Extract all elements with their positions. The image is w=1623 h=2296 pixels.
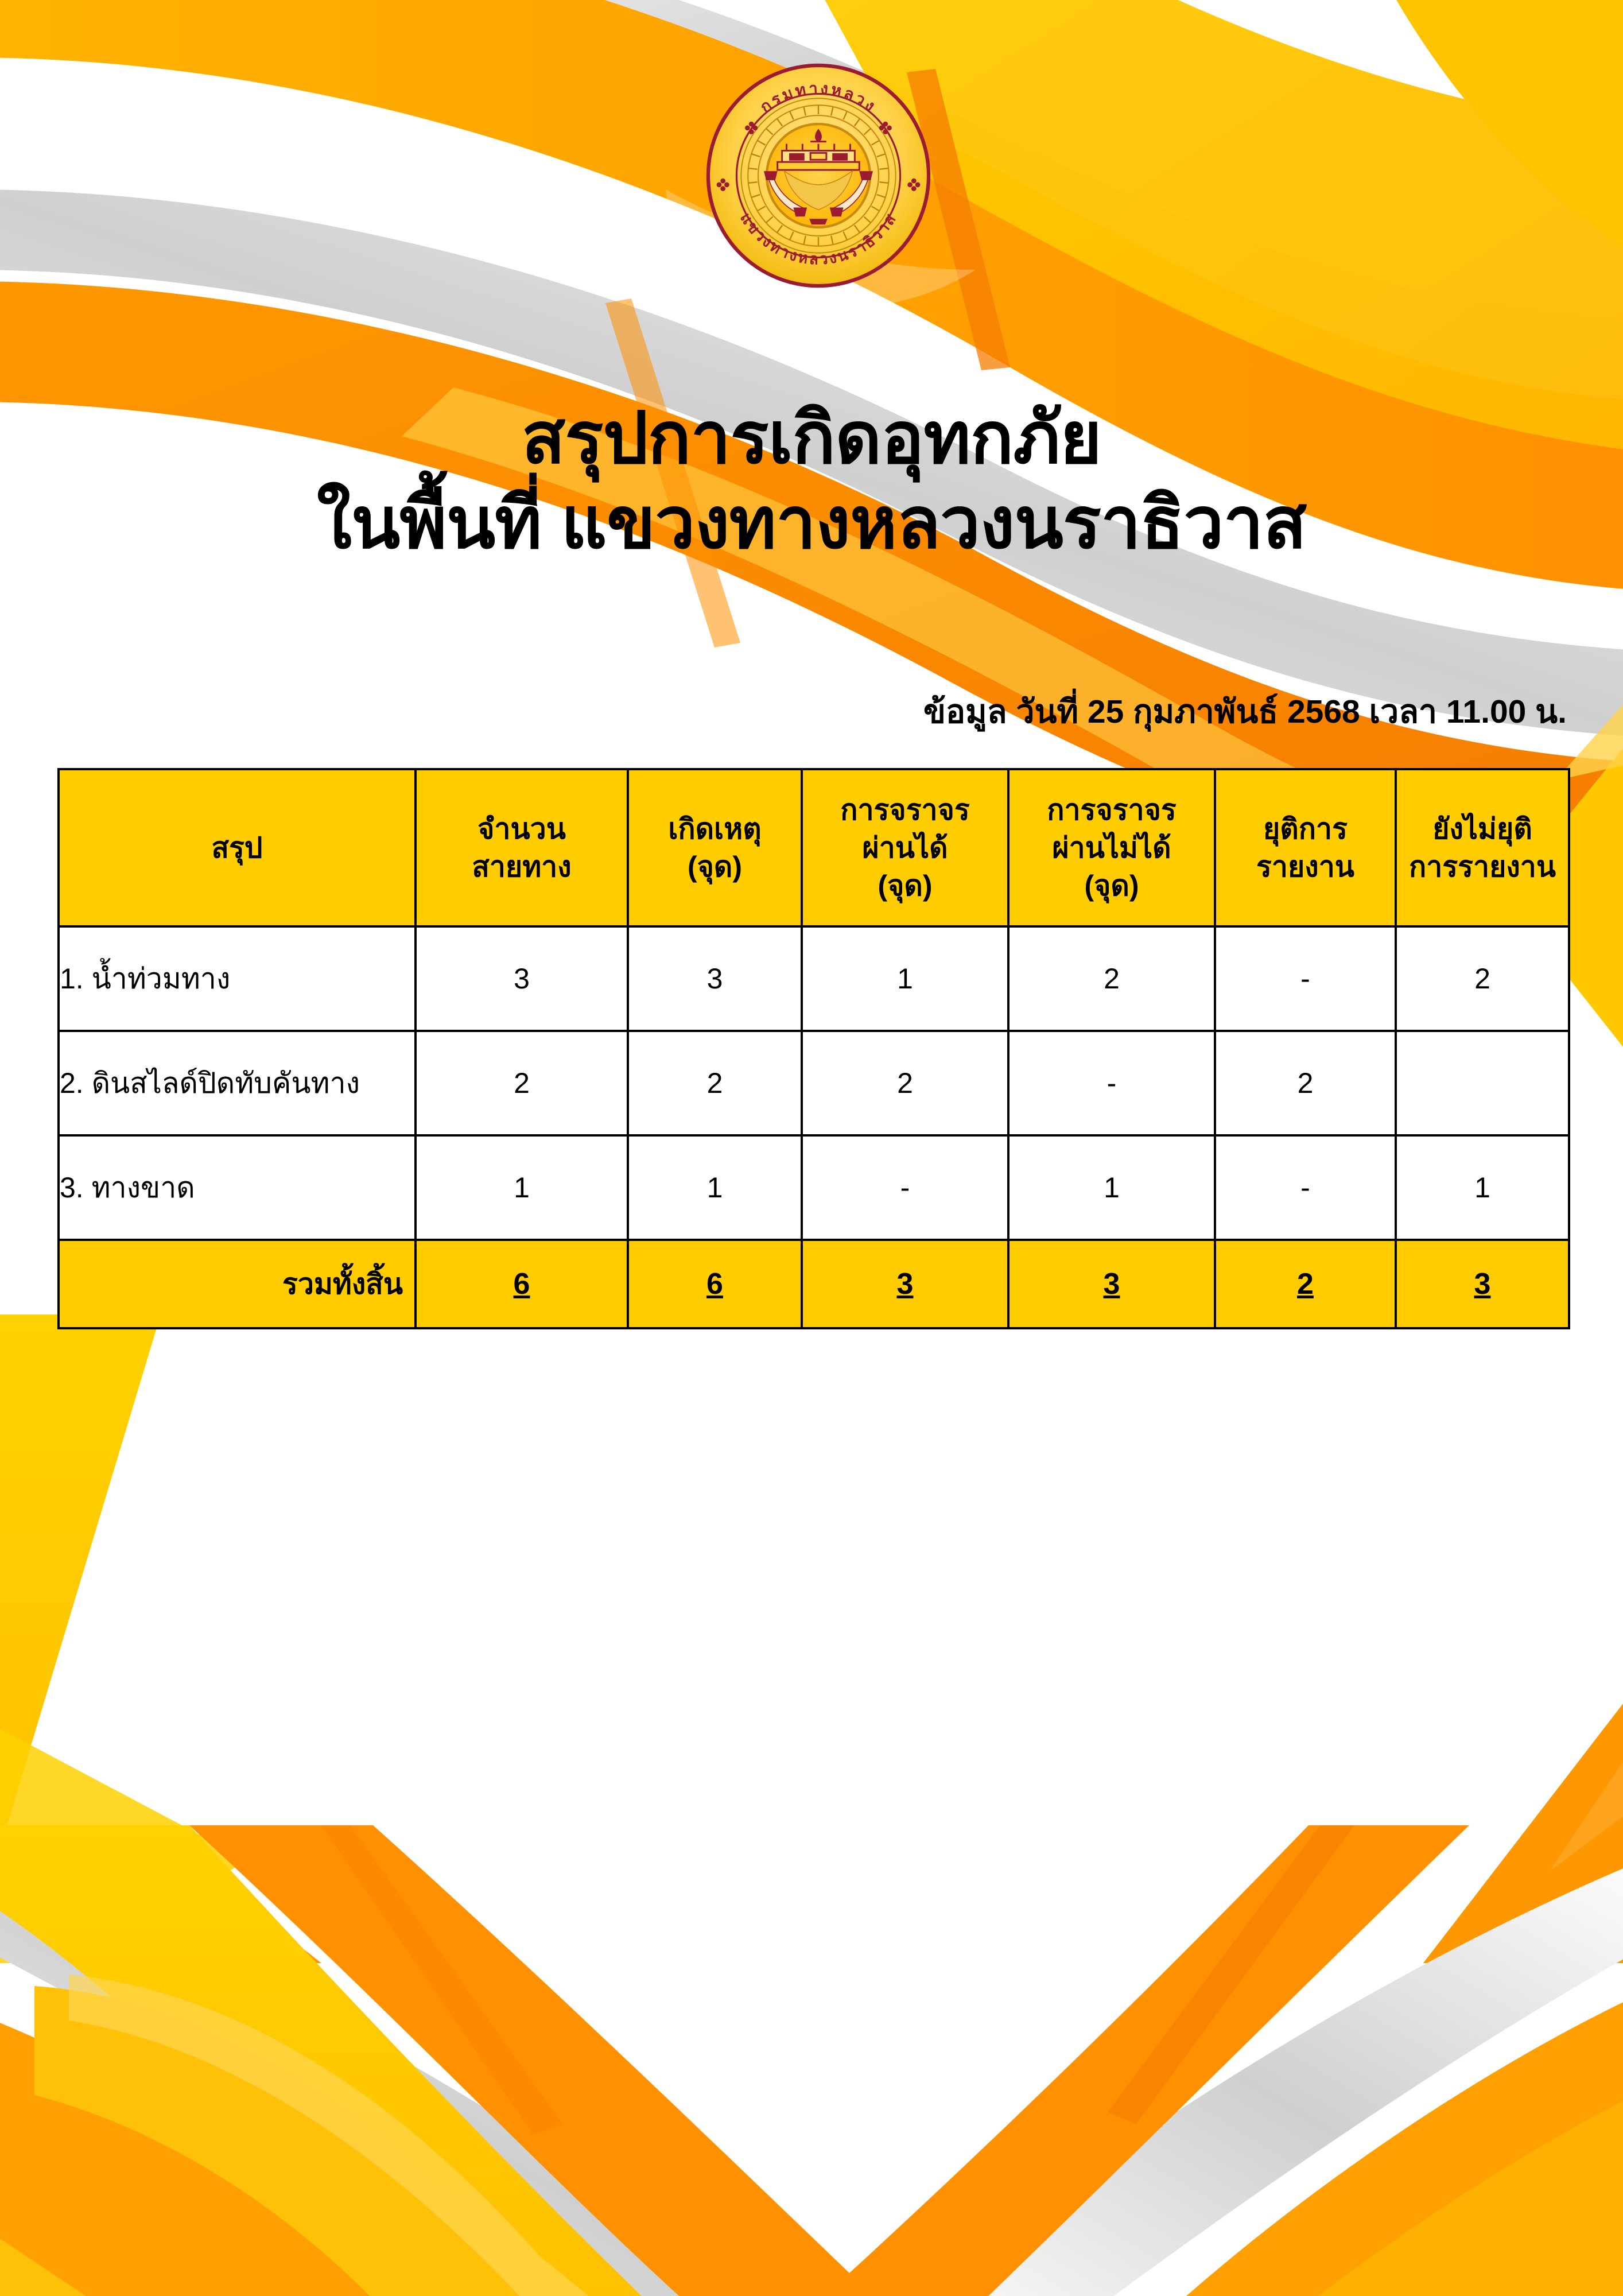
column-header-impassable: การจราจร ผ่านไม่ได้ (จุด) xyxy=(1008,769,1215,926)
total-passable: 3 xyxy=(802,1240,1008,1328)
column-header-report-closed: ยุติการ รายงาน xyxy=(1215,769,1396,926)
row-category: 1. น้ำท่วมทาง xyxy=(59,926,416,1031)
cell-incident-points: 2 xyxy=(628,1031,802,1135)
table-row: 2. ดินสไลด์ปิดทับคันทาง 2 2 2 - 2 xyxy=(59,1031,1569,1135)
cell-passable: 2 xyxy=(802,1031,1008,1135)
cell-report-closed: 2 xyxy=(1215,1031,1396,1135)
header-text: เกิดเหตุ xyxy=(629,810,801,848)
organization-seal: กรมทางหลวง แขวงทางหลวงนราธิวาส xyxy=(705,62,932,289)
header-text: ยังไม่ยุติ xyxy=(1397,810,1568,848)
total-incident-points: 6 xyxy=(628,1240,802,1328)
header-text: รายงาน xyxy=(1216,848,1395,886)
header-text: สายทาง xyxy=(417,848,627,886)
header-text: ยุติการ xyxy=(1216,810,1395,848)
title-line-2: ในพื้นที่ แขวงทางหลวงนราธิวาส xyxy=(0,481,1623,566)
cell-impassable: 1 xyxy=(1008,1135,1215,1240)
total-report-open: 3 xyxy=(1396,1240,1569,1328)
total-label: รวมทั้งสิ้น xyxy=(59,1240,416,1328)
page-title: สรุปการเกิดอุทกภัย ในพื้นที่ แขวงทางหลวง… xyxy=(0,396,1623,565)
department-of-highways-seal-icon: กรมทางหลวง แขวงทางหลวงนราธิวาส xyxy=(705,62,932,289)
column-header-incident-points: เกิดเหตุ (จุด) xyxy=(628,769,802,926)
column-header-summary: สรุป xyxy=(59,769,416,926)
cell-route-count: 1 xyxy=(416,1135,628,1240)
table-row: 3. ทางขาด 1 1 - 1 - 1 xyxy=(59,1135,1569,1240)
total-route-count: 6 xyxy=(416,1240,628,1328)
flood-summary-table: สรุป จำนวน สายทาง เกิดเหตุ (จุด) การจราจ… xyxy=(57,768,1570,1329)
header-text: (จุด) xyxy=(1009,867,1214,905)
cell-impassable: - xyxy=(1008,1031,1215,1135)
header-text: จำนวน xyxy=(417,810,627,848)
left-middle-accent xyxy=(0,1314,321,1963)
cell-route-count: 2 xyxy=(416,1031,628,1135)
total-report-closed: 2 xyxy=(1215,1240,1396,1328)
data-timestamp-note: ข้อมูล วันที่ 25 กุมภาพันธ์ 2568 เวลา 11… xyxy=(923,686,1567,738)
header-text: การจราจร xyxy=(1009,791,1214,829)
cell-incident-points: 1 xyxy=(628,1135,802,1240)
cell-report-closed: - xyxy=(1215,1135,1396,1240)
column-header-report-open: ยังไม่ยุติ การรายงาน xyxy=(1396,769,1569,926)
summary-table-container: สรุป จำนวน สายทาง เกิดเหตุ (จุด) การจราจ… xyxy=(57,768,1568,1329)
column-header-route-count: จำนวน สายทาง xyxy=(416,769,628,926)
cell-report-open xyxy=(1396,1031,1569,1135)
cell-report-open: 2 xyxy=(1396,926,1569,1031)
cell-passable: 1 xyxy=(802,926,1008,1031)
header-row: สรุป จำนวน สายทาง เกิดเหตุ (จุด) การจราจ… xyxy=(59,769,1569,926)
cell-route-count: 3 xyxy=(416,926,628,1031)
header-text: สรุป xyxy=(60,829,414,867)
header-text: การรายงาน xyxy=(1397,848,1568,886)
row-category: 3. ทางขาด xyxy=(59,1135,416,1240)
table-total-row: รวมทั้งสิ้น 6 6 3 3 2 3 xyxy=(59,1240,1569,1328)
table-header: สรุป จำนวน สายทาง เกิดเหตุ (จุด) การจราจ… xyxy=(59,769,1569,926)
header-text: ผ่านไม่ได้ xyxy=(1009,829,1214,867)
header-text: (จุด) xyxy=(803,867,1007,905)
title-line-1: สรุปการเกิดอุทกภัย xyxy=(0,396,1623,481)
column-header-passable: การจราจร ผ่านได้ (จุด) xyxy=(802,769,1008,926)
cell-passable: - xyxy=(802,1135,1008,1240)
header-text: ผ่านได้ xyxy=(803,829,1007,867)
table-body: 1. น้ำท่วมทาง 3 3 1 2 - 2 2. ดินสไลด์ปิด… xyxy=(59,926,1569,1328)
right-middle-accent xyxy=(1423,1659,1623,1963)
bottom-ribbon-group xyxy=(0,1825,1623,2296)
cell-impassable: 2 xyxy=(1008,926,1215,1031)
table-row: 1. น้ำท่วมทาง 3 3 1 2 - 2 xyxy=(59,926,1569,1031)
row-category: 2. ดินสไลด์ปิดทับคันทาง xyxy=(59,1031,416,1135)
cell-report-closed: - xyxy=(1215,926,1396,1031)
header-text: การจราจร xyxy=(803,791,1007,829)
cell-report-open: 1 xyxy=(1396,1135,1569,1240)
cell-incident-points: 3 xyxy=(628,926,802,1031)
header-text: (จุด) xyxy=(629,848,801,886)
total-impassable: 3 xyxy=(1008,1240,1215,1328)
